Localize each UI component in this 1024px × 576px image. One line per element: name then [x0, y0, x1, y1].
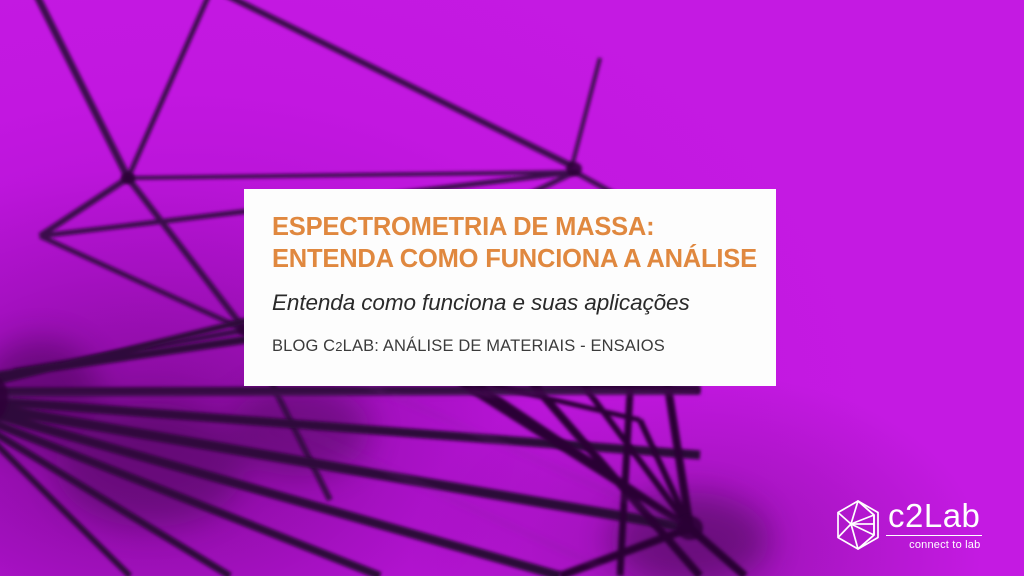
logo-wordmark: c2Lab — [886, 498, 982, 536]
c2lab-hexagon-logo-icon — [832, 499, 884, 551]
headline-line-1: ESPECTROMETRIA DE MASSA: — [272, 211, 750, 243]
brand-logo[interactable]: c2Lab connect to lab — [832, 498, 1002, 556]
page-title: ESPECTROMETRIA DE MASSA: ENTENDA COMO FU… — [272, 211, 750, 276]
subtitle: Entenda como funciona e suas aplicações — [272, 289, 750, 316]
slide-canvas: ESPECTROMETRIA DE MASSA: ENTENDA COMO FU… — [0, 0, 1024, 576]
logo-text-block: c2Lab connect to lab — [886, 498, 982, 553]
logo-tagline: connect to lab — [909, 538, 982, 553]
kicker-suffix: LAB: ANÁLISE DE MATERIAIS - ENSAIOS — [343, 337, 665, 355]
breadcrumb: BLOG C2LAB: ANÁLISE DE MATERIAIS - ENSAI… — [272, 337, 750, 356]
title-card: ESPECTROMETRIA DE MASSA: ENTENDA COMO FU… — [244, 189, 776, 386]
kicker-prefix: BLOG C — [272, 337, 335, 355]
headline-line-2: ENTENDA COMO FUNCIONA A ANÁLISE — [272, 243, 750, 275]
kicker-small-two: 2 — [335, 339, 342, 354]
